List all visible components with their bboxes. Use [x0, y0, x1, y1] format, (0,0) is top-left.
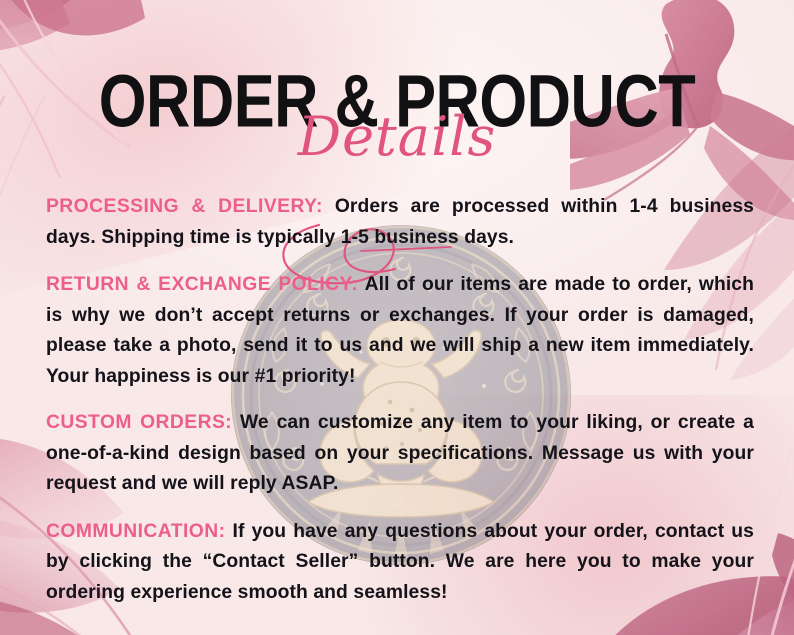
section-lead-custom-orders: CUSTOM ORDERS: [46, 412, 232, 433]
order-product-details-graphic: ORDER & PRODUCT Details PROCESSING & DEL… [0, 0, 794, 635]
page-subtitle-script: Details [0, 105, 794, 169]
section-communication: COMMUNICATION: If you have any questions… [46, 517, 754, 609]
section-custom-orders: CUSTOM ORDERS: We can customize any item… [46, 408, 754, 500]
section-return-exchange-policy: RETURN & EXCHANGE POLICY: All of our ite… [46, 270, 754, 392]
details-sections: PROCESSING & DELIVERY: Orders are proces… [46, 192, 754, 608]
section-lead-processing-delivery: PROCESSING & DELIVERY: [46, 196, 323, 217]
subtitle-text: Details [298, 105, 496, 168]
section-processing-delivery: PROCESSING & DELIVERY: Orders are proces… [46, 192, 754, 253]
section-lead-communication: COMMUNICATION: [46, 521, 225, 542]
section-lead-return-exchange-policy: RETURN & EXCHANGE POLICY: [46, 274, 358, 295]
